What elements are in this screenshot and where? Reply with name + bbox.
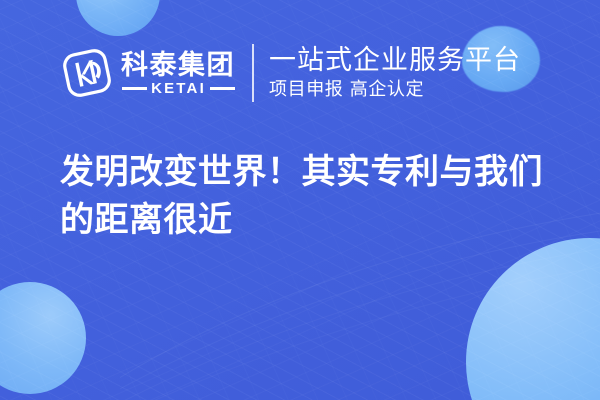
brand-name-cn: 科泰集团 [121,51,235,80]
banner-header: 科泰集团 KETAI 一站式企业服务平台 项目申报 高企认定 [62,44,521,102]
brand-name-en: KETAI [151,81,206,96]
brand-wordmark: 科泰集团 KETAI [121,51,235,96]
header-taglines: 一站式企业服务平台 项目申报 高企认定 [269,45,521,102]
ketai-kp-monogram-icon [62,48,112,98]
page-title: 发明改变世界！其实专利与我们的距离很近 [60,148,576,244]
brand-logo[interactable]: 科泰集团 KETAI [62,48,235,98]
wordmark-rule-left [122,87,147,90]
promo-banner: 科泰集团 KETAI 一站式企业服务平台 项目申报 高企认定 发明改变世界！其实… [0,0,600,400]
tagline-primary: 一站式企业服务平台 [269,45,521,77]
tagline-secondary: 项目申报 高企认定 [269,78,521,102]
header-divider [252,44,254,102]
wordmark-rule-right [210,87,235,90]
brand-name-en-row: KETAI [121,81,235,96]
